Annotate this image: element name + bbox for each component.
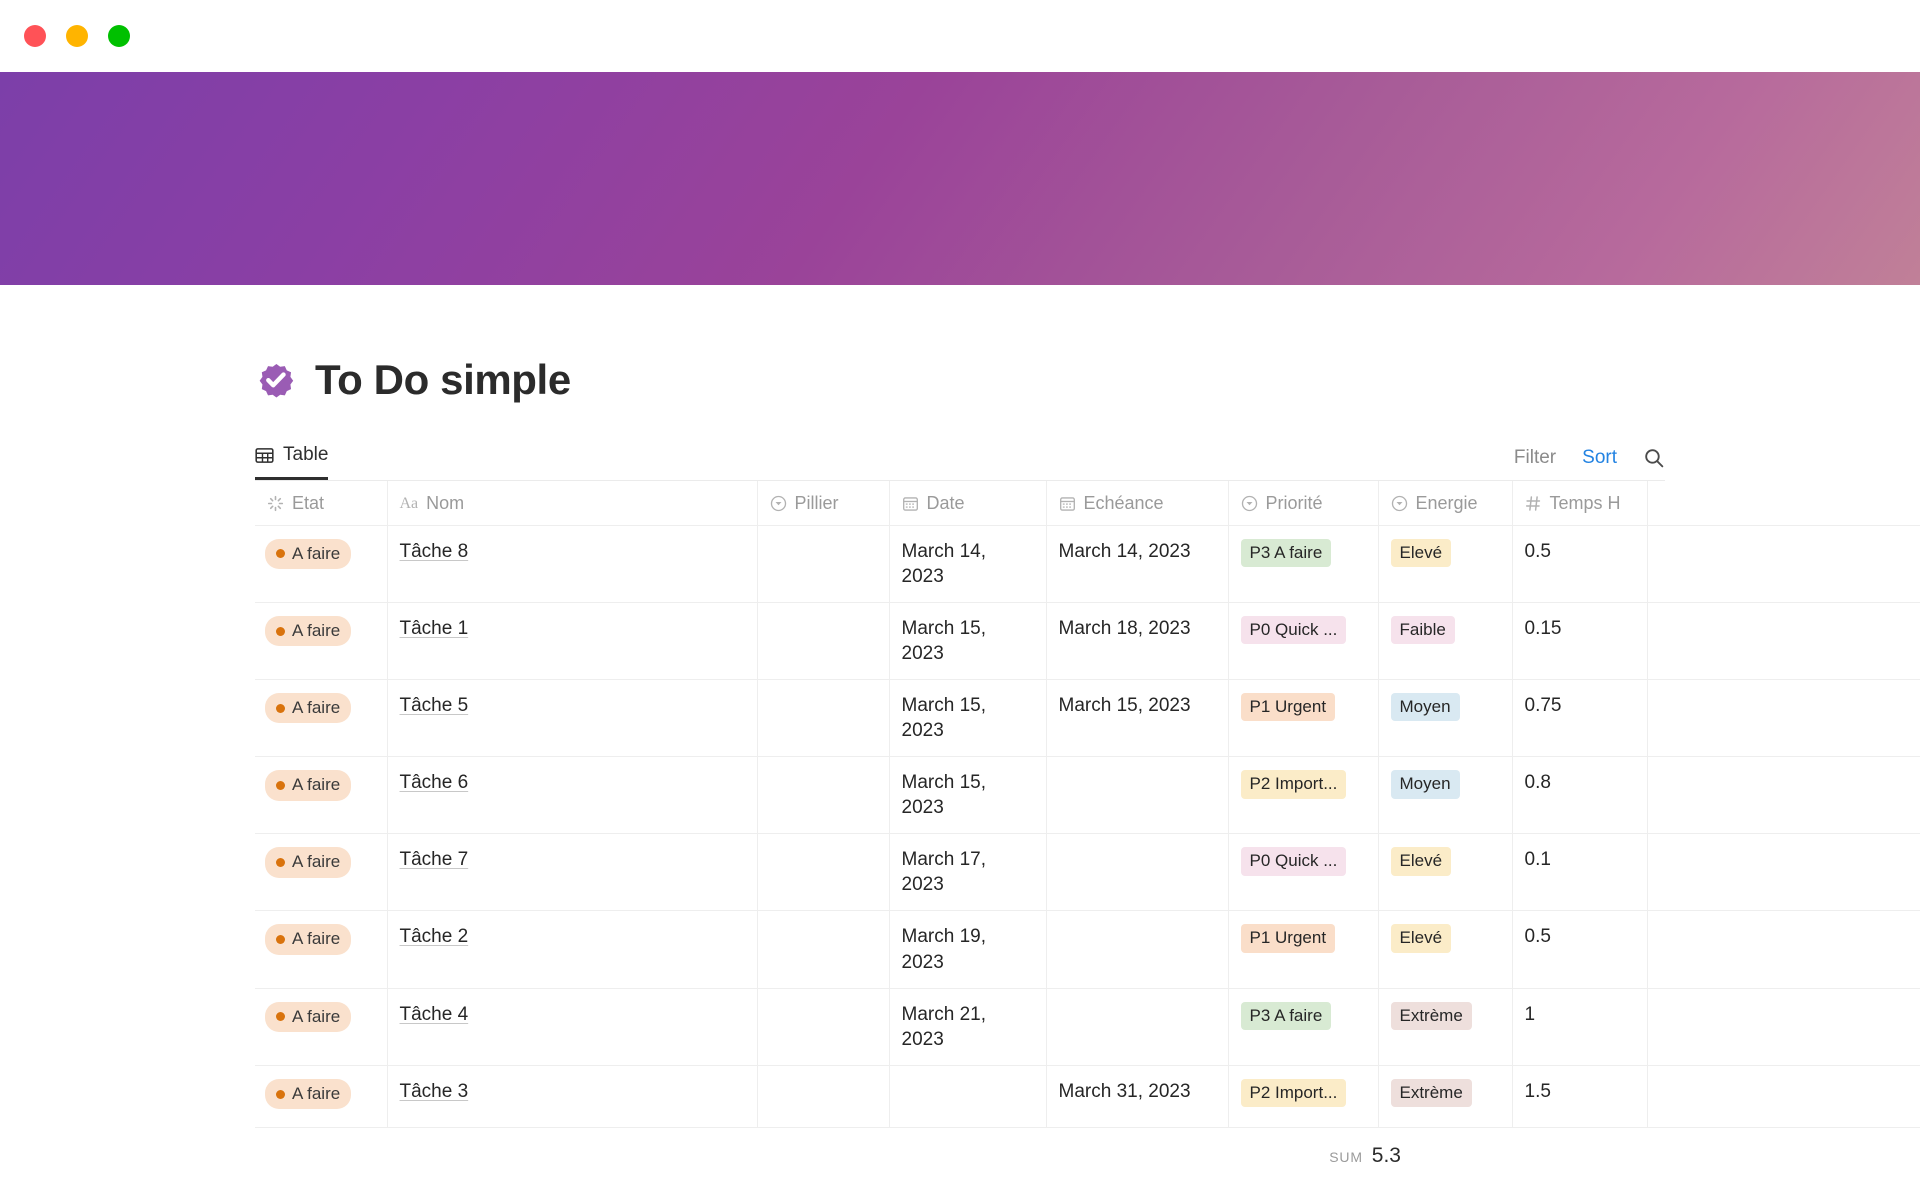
cell-etat[interactable]: A faire [255, 602, 387, 679]
cell-nom[interactable]: Tâche 7 [387, 834, 757, 911]
status-dot-icon [276, 1012, 285, 1021]
table-row[interactable]: A faireTâche 7March 17, 2023P0 Quick ...… [255, 834, 1920, 911]
table-row[interactable]: A faireTâche 4March 21, 2023P3 A faireEx… [255, 988, 1920, 1065]
cell-echeance[interactable]: March 15, 2023 [1046, 680, 1228, 757]
cell-priorite[interactable]: P2 Import... [1228, 757, 1378, 834]
status-badge: A faire [265, 539, 351, 569]
cell-etat[interactable]: A faire [255, 911, 387, 988]
status-badge-label: A faire [292, 543, 340, 565]
status-badge-label: A faire [292, 620, 340, 642]
cell-blank [1647, 988, 1920, 1065]
cell-temps-h[interactable]: 0.15 [1512, 602, 1647, 679]
cell-date[interactable] [889, 1065, 1046, 1128]
select-circle-icon [1241, 495, 1258, 512]
task-name-link[interactable]: Tâche 5 [400, 695, 469, 716]
energie-tag: Elevé [1391, 847, 1452, 875]
close-button[interactable] [24, 25, 46, 47]
cell-pillier[interactable] [757, 680, 889, 757]
sum-label: SUM [1329, 1149, 1363, 1165]
energie-tag: Extrème [1391, 1079, 1472, 1107]
status-badge: A faire [265, 847, 351, 877]
column-header-nom-label: Nom [426, 493, 464, 514]
view-tab-list: Table [255, 439, 328, 480]
priorite-tag: P2 Import... [1241, 1079, 1347, 1107]
sum-value: 5.3 [1372, 1144, 1401, 1168]
tab-table-label: Table [283, 444, 328, 466]
cell-echeance[interactable] [1046, 834, 1228, 911]
cell-blank [1647, 680, 1920, 757]
cell-pillier[interactable] [757, 757, 889, 834]
status-badge: A faire [265, 1079, 351, 1109]
status-badge: A faire [265, 616, 351, 646]
cell-etat[interactable]: A faire [255, 1065, 387, 1128]
status-dot-icon [276, 704, 285, 713]
status-dot-icon [276, 935, 285, 944]
cell-etat[interactable]: A faire [255, 525, 387, 602]
status-badge-label: A faire [292, 851, 340, 873]
cell-temps-h[interactable]: 0.1 [1512, 834, 1647, 911]
status-badge-label: A faire [292, 774, 340, 796]
page-cover-banner[interactable] [0, 72, 1920, 285]
status-badge-label: A faire [292, 1006, 340, 1028]
column-header-add[interactable] [1647, 481, 1920, 525]
cell-energie[interactable]: Moyen [1378, 757, 1512, 834]
cell-date[interactable]: March 15, 2023 [889, 757, 1046, 834]
cell-energie[interactable]: Extrème [1378, 988, 1512, 1065]
sort-button[interactable]: Sort [1582, 447, 1617, 469]
content-container: To Do simple Table Filter Sort [125, 285, 1795, 1168]
cell-nom[interactable]: Tâche 2 [387, 911, 757, 988]
cell-energie[interactable]: Faible [1378, 602, 1512, 679]
table-row[interactable]: A faireTâche 1March 15, 2023March 18, 20… [255, 602, 1920, 679]
task-name-link[interactable]: Tâche 7 [400, 849, 469, 870]
cell-echeance[interactable] [1046, 757, 1228, 834]
energie-tag: Moyen [1391, 770, 1460, 798]
toolbar-actions: Filter Sort [1514, 447, 1665, 480]
cell-date[interactable]: March 19, 2023 [889, 911, 1046, 988]
cell-energie[interactable]: Elevé [1378, 911, 1512, 988]
calendar-icon [902, 495, 919, 512]
cell-priorite[interactable]: P0 Quick ... [1228, 602, 1378, 679]
status-badge: A faire [265, 770, 351, 800]
cell-echeance[interactable] [1046, 988, 1228, 1065]
search-icon[interactable] [1643, 447, 1665, 469]
column-header-etat-label: Etat [292, 493, 324, 514]
energie-tag: Faible [1391, 616, 1455, 644]
column-header-temps-label: Temps H [1550, 493, 1621, 514]
energie-tag: Extrème [1391, 1002, 1472, 1030]
table-header-row: Etat Aa Nom [255, 481, 1920, 525]
cell-pillier[interactable] [757, 911, 889, 988]
column-header-nom[interactable]: Aa Nom [387, 481, 757, 525]
cell-blank [1647, 525, 1920, 602]
column-header-energie[interactable]: Energie [1378, 481, 1512, 525]
cell-blank [1647, 757, 1920, 834]
status-dot-icon [276, 627, 285, 636]
cell-pillier[interactable] [757, 1065, 889, 1128]
cell-etat[interactable]: A faire [255, 988, 387, 1065]
text-aa-icon: Aa [400, 495, 419, 513]
task-name-link[interactable]: Tâche 3 [400, 1081, 469, 1102]
status-dot-icon [276, 858, 285, 867]
priorite-tag: P0 Quick ... [1241, 616, 1347, 644]
cell-temps-h[interactable]: 0.5 [1512, 911, 1647, 988]
table-row[interactable]: A faireTâche 3March 31, 2023P2 Import...… [255, 1065, 1920, 1128]
status-badge-label: A faire [292, 697, 340, 719]
column-header-priorite[interactable]: Priorité [1228, 481, 1378, 525]
status-badge: A faire [265, 1002, 351, 1032]
priorite-tag: P3 A faire [1241, 539, 1332, 567]
cell-date[interactable]: March 15, 2023 [889, 680, 1046, 757]
cell-temps-h[interactable]: 0.5 [1512, 525, 1647, 602]
column-header-pillier[interactable]: Pillier [757, 481, 889, 525]
table-row[interactable]: A faireTâche 5March 15, 2023March 15, 20… [255, 680, 1920, 757]
priorite-tag: P1 Urgent [1241, 693, 1336, 721]
table-row[interactable]: A faireTâche 6March 15, 2023P2 Import...… [255, 757, 1920, 834]
status-badge-label: A faire [292, 1083, 340, 1105]
filter-button[interactable]: Filter [1514, 447, 1556, 469]
cell-nom[interactable]: Tâche 4 [387, 988, 757, 1065]
column-header-date[interactable]: Date [889, 481, 1046, 525]
purple-verified-badge-icon [255, 359, 297, 401]
cell-date[interactable]: March 14, 2023 [889, 525, 1046, 602]
cell-echeance[interactable]: March 14, 2023 [1046, 525, 1228, 602]
table-row[interactable]: A faireTâche 8March 14, 2023March 14, 20… [255, 525, 1920, 602]
number-hash-icon [1525, 495, 1542, 512]
cell-energie[interactable]: Extrème [1378, 1065, 1512, 1128]
energie-tag: Moyen [1391, 693, 1460, 721]
column-header-date-label: Date [927, 493, 965, 514]
table-footer-sum[interactable]: SUM 5.3 [255, 1128, 1665, 1168]
cell-temps-h[interactable]: 0.75 [1512, 680, 1647, 757]
task-name-link[interactable]: Tâche 1 [400, 618, 469, 639]
cell-priorite[interactable]: P2 Import... [1228, 1065, 1378, 1128]
cell-priorite[interactable]: P0 Quick ... [1228, 834, 1378, 911]
cell-priorite[interactable]: P3 A faire [1228, 525, 1378, 602]
cell-priorite[interactable]: P1 Urgent [1228, 911, 1378, 988]
cell-pillier[interactable] [757, 525, 889, 602]
column-header-echeance[interactable]: Echéance [1046, 481, 1228, 525]
cell-temps-h[interactable]: 1 [1512, 988, 1647, 1065]
status-badge: A faire [265, 693, 351, 723]
minimize-button[interactable] [66, 25, 88, 47]
priorite-tag: P1 Urgent [1241, 924, 1336, 952]
task-name-link[interactable]: Tâche 4 [400, 1004, 469, 1025]
page-body: To Do simple Table Filter Sort [0, 285, 1920, 1168]
cell-date[interactable]: March 15, 2023 [889, 602, 1046, 679]
cell-blank [1647, 1065, 1920, 1128]
column-header-energie-label: Energie [1416, 493, 1478, 514]
task-name-link[interactable]: Tâche 6 [400, 772, 469, 793]
column-header-pillier-label: Pillier [795, 493, 839, 514]
priorite-tag: P3 A faire [1241, 1002, 1332, 1030]
select-circle-icon [1391, 495, 1408, 512]
column-header-temps[interactable]: Temps H [1512, 481, 1647, 525]
cell-pillier[interactable] [757, 988, 889, 1065]
cell-echeance[interactable]: March 18, 2023 [1046, 602, 1228, 679]
traffic-light-group [24, 25, 130, 47]
status-badge-label: A faire [292, 928, 340, 950]
cell-priorite[interactable]: P1 Urgent [1228, 680, 1378, 757]
page-header: To Do simple [255, 285, 1665, 403]
cell-pillier[interactable] [757, 602, 889, 679]
cell-date[interactable]: March 17, 2023 [889, 834, 1046, 911]
page-title: To Do simple [315, 357, 571, 403]
table-row[interactable]: A faireTâche 2March 19, 2023P1 UrgentEle… [255, 911, 1920, 988]
column-header-priorite-label: Priorité [1266, 493, 1323, 514]
window-titlebar [0, 0, 1920, 72]
cell-nom[interactable]: Tâche 6 [387, 757, 757, 834]
cell-nom[interactable]: Tâche 3 [387, 1065, 757, 1128]
status-spinner-icon [267, 495, 284, 512]
cell-pillier[interactable] [757, 834, 889, 911]
task-name-link[interactable]: Tâche 2 [400, 926, 469, 947]
column-header-etat[interactable]: Etat [255, 481, 387, 525]
database-table: Etat Aa Nom [255, 481, 1920, 1128]
cell-echeance[interactable]: March 31, 2023 [1046, 1065, 1228, 1128]
select-circle-icon [770, 495, 787, 512]
table-grid-icon [255, 446, 274, 465]
cell-blank [1647, 602, 1920, 679]
energie-tag: Elevé [1391, 924, 1452, 952]
cell-nom[interactable]: Tâche 5 [387, 680, 757, 757]
cell-energie[interactable]: Elevé [1378, 525, 1512, 602]
priorite-tag: P0 Quick ... [1241, 847, 1347, 875]
status-badge: A faire [265, 924, 351, 954]
task-name-link[interactable]: Tâche 8 [400, 541, 469, 562]
cell-temps-h[interactable]: 0.8 [1512, 757, 1647, 834]
column-header-echeance-label: Echéance [1084, 493, 1164, 514]
status-dot-icon [276, 549, 285, 558]
status-dot-icon [276, 781, 285, 790]
cell-energie[interactable]: Elevé [1378, 834, 1512, 911]
cell-nom[interactable]: Tâche 1 [387, 602, 757, 679]
cell-priorite[interactable]: P3 A faire [1228, 988, 1378, 1065]
energie-tag: Elevé [1391, 539, 1452, 567]
cell-etat[interactable]: A faire [255, 757, 387, 834]
cell-date[interactable]: March 21, 2023 [889, 988, 1046, 1065]
cell-temps-h[interactable]: 1.5 [1512, 1065, 1647, 1128]
cell-echeance[interactable] [1046, 911, 1228, 988]
tab-table[interactable]: Table [255, 444, 328, 480]
cell-nom[interactable]: Tâche 8 [387, 525, 757, 602]
table-body: A faireTâche 8March 14, 2023March 14, 20… [255, 525, 1920, 1128]
status-dot-icon [276, 1090, 285, 1099]
maximize-button[interactable] [108, 25, 130, 47]
view-toolbar: Table Filter Sort [255, 439, 1665, 481]
calendar-icon [1059, 495, 1076, 512]
cell-blank [1647, 911, 1920, 988]
priorite-tag: P2 Import... [1241, 770, 1347, 798]
cell-etat[interactable]: A faire [255, 834, 387, 911]
cell-blank [1647, 834, 1920, 911]
cell-etat[interactable]: A faire [255, 680, 387, 757]
cell-energie[interactable]: Moyen [1378, 680, 1512, 757]
table-header: Etat Aa Nom [255, 481, 1920, 525]
